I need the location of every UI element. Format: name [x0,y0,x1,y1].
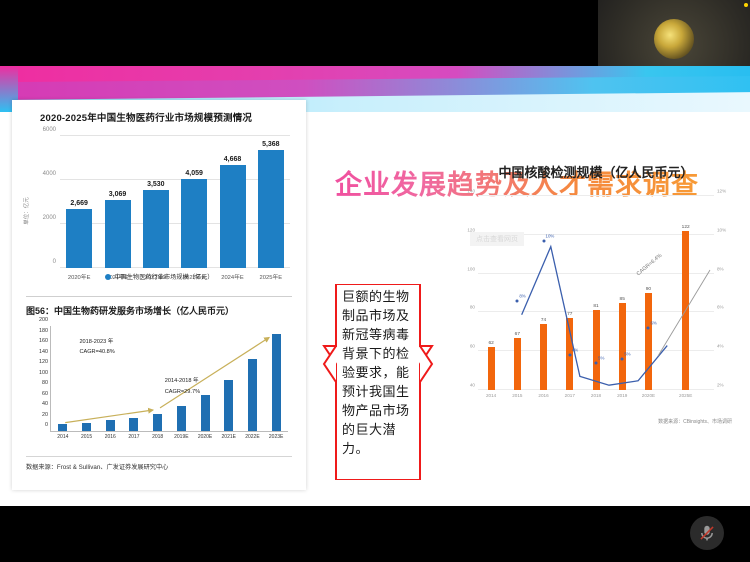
callout-annotation: 巨额的生物制品市场及新冠等病毒背景下的检验要求，能预计我国生物产品市场的巨大潜力… [322,284,434,480]
chart2-plot-area: 0204060801001201401601802002014201520162… [50,326,288,432]
chart3-title: 中国核酸检测规模（亿人民币元） [452,162,740,181]
chart3-x-tick: 2017 [565,393,575,398]
chart2-x-tick: 2014 [57,434,68,440]
chart3-bar: 902020E [645,293,652,390]
chart1-gridline [60,179,290,180]
chart2-bar: 2014 [58,424,67,431]
chart3-bar: 672015 [514,338,521,390]
legend-marker [105,274,111,280]
chart2-annotation-period: 2014-2018 年 [165,376,199,384]
chart3-bar-value: 77 [567,312,572,317]
chart3-bar: 852019 [619,303,626,390]
chart2-y-tick: 200 [39,317,48,323]
chart3-line-point-label: 5% [598,355,604,360]
chart2-x-tick: 2023E [269,434,283,440]
chart3-y-tick: 40 [470,383,475,388]
chart2-bar: 2022E [248,359,257,431]
right-chart-card: 中国核酸检测规模（亿人民币元） 4060801001201402%4%6%8%1… [452,162,740,462]
callout-text: 巨额的生物制品市场及新冠等病毒背景下的检验要求，能预计我国生物产品市场的巨大潜力… [342,288,416,459]
chart2-bar: 2020E [201,395,210,431]
chart3-secondary-y-tick: 10% [717,227,726,232]
chart1-y-axis-title: 单位：亿元 [22,197,30,225]
chart2-y-tick: 80 [42,380,48,386]
chart3-bar-value: 67 [515,332,520,337]
mute-button[interactable] [690,516,724,550]
chart2-annotation-cagr: CAGR=40.8% [79,349,114,355]
chart3-line-point-label: 6% [650,320,656,325]
chart3-bar: 812018 [593,310,600,390]
chart3-x-tick: 2019 [617,393,627,398]
chart2-y-tick: 0 [45,422,48,428]
chart1-y-tick: 4000 [43,171,56,177]
chart1-bar-value: 2,669 [70,200,88,207]
chart3-source-note: 数据来源：CBinsights、市场调研 [658,418,732,425]
source-divider [26,456,292,457]
chart3-bar-value: 122 [682,225,690,230]
chart2-y-tick: 140 [39,349,48,355]
chart3-y-tick: 140 [467,189,475,194]
chart2-bar: 2017 [129,418,138,431]
chart2-y-tick: 100 [39,370,48,376]
chart2-y-tick: 20 [42,412,48,418]
screen-share-view: 程哲灏的屏幕共享 2020-2025年中国生物医药行业市场规模预测情况 单位：亿… [0,0,750,562]
chart3-line-point-label: 4% [572,348,578,353]
chart1-bar-value: 4,059 [185,170,203,177]
chart1-title: 2020-2025年中国生物医药行业市场规模预测情况 [40,110,252,124]
chart2-y-tick: 180 [39,328,48,334]
chart3-y-tick: 80 [470,305,475,310]
chart2-x-tick: 2016 [105,434,116,440]
chart2-y-tick: 160 [39,338,48,344]
chart3-secondary-y-tick: 4% [717,344,724,349]
chart3-bar: 742016 [540,324,547,390]
chart2-bar: 2019E [177,406,186,431]
chart2-source-note: 数据来源：Frost & Sullivan、广发证券发展研究中心 [26,462,168,471]
chart3-line-point-label: 10% [546,233,555,238]
bar-chart-nucleic-acid-testing: 4060801001201402%4%6%8%10%12%62201467201… [452,190,740,414]
chart2-x-tick: 2021E [222,434,236,440]
chart1-bar-value: 4,668 [224,156,242,163]
chart3-x-tick: 2025E [679,393,692,398]
chart3-gridline [478,273,714,274]
left-chart-card: 2020-2025年中国生物医药行业市场规模预测情况 单位：亿元 0200040… [12,100,306,490]
chart3-line-point [516,299,519,302]
chart3-line-point [542,239,545,242]
chart3-line-point [568,354,571,357]
chart3-bar: 622014 [488,347,495,390]
chart3-x-tick: 2018 [591,393,601,398]
chart2-bar: 2021E [224,380,233,431]
chart2-title: 图56：中国生物药研发服务市场增长（亿人民币元） [26,304,234,317]
chart3-bar: 1222025E [682,231,689,390]
chart1-gridline [60,223,290,224]
chart2-annotation-period: 2018-2023 年 [79,337,113,345]
chart1-bar: 3,0692021年E [105,200,131,268]
chart3-secondary-y-tick: 6% [717,305,724,310]
chart1-gridline [60,135,290,136]
avatar [654,19,694,59]
chart3-x-tick: 2014 [486,393,496,398]
chart2-bar: 2023E [272,334,281,431]
chart2-annotation-cagr: CAGR=29.7% [165,389,200,395]
chart3-line-point-label: 5% [624,351,630,356]
chart3-bar-value: 62 [488,341,493,346]
chart3-y-tick: 60 [470,344,475,349]
bar-chart-rnd-service-growth: 0204060801001201401601802002014201520162… [20,322,300,454]
chart2-x-tick: 2015 [81,434,92,440]
chart3-bar-value: 85 [620,297,625,302]
recording-indicator-dot [744,3,748,7]
chart3-bar-value: 74 [541,318,546,323]
chart2-bar: 2015 [82,423,91,431]
chart1-legend: 中国生物医药行业市场规模（亿元） [12,272,306,281]
chart1-bar: 5,3682025年E [258,150,284,268]
chart3-x-tick: 2020E [642,393,655,398]
chart3-y-tick: 100 [467,266,475,271]
chart2-x-tick: 2017 [128,434,139,440]
chart1-bar: 2,6692020年E [66,209,92,268]
chart2-y-tick: 60 [42,391,48,397]
chart3-bar-value: 90 [646,287,651,292]
chart2-x-tick: 2018 [152,434,163,440]
chart3-secondary-y-tick: 8% [717,266,724,271]
chart2-bar: 2016 [106,420,115,431]
microphone-muted-icon [698,524,716,542]
chart2-bar: 2018 [153,414,162,431]
chart3-secondary-y-tick: 2% [717,383,724,388]
chart1-plot-area: 02000400060002,6692020年E3,0692021年E3,530… [60,136,290,268]
chart3-line-point-label: 8% [519,293,525,298]
chart3-secondary-y-tick: 12% [717,189,726,194]
chart3-bar-value: 81 [593,304,598,309]
legend-label: 中国生物医药行业市场规模（亿元） [115,272,214,281]
chart1-bar-value: 3,069 [109,191,127,198]
chart1-bar: 4,6682024年E [220,165,246,268]
chart3-line-point [647,326,650,329]
presentation-slide: 2020-2025年中国生物医药行业市场规模预测情况 单位：亿元 0200040… [0,66,750,506]
chart3-x-tick: 2016 [538,393,548,398]
chart1-bar: 3,5302022年E [143,190,169,268]
chart1-y-tick: 0 [53,259,56,265]
chart1-bar: 4,0592023年E [181,179,207,268]
chart3-watermark: 点击查看网页 [470,232,524,246]
bar-chart-biopharma-market: 单位：亿元 02000400060002,6692020年E3,0692021年… [20,128,300,294]
chart3-plot-area: 4060801001201402%4%6%8%10%12%62201467201… [478,196,714,390]
chart3-line-point [595,361,598,364]
chart3-x-tick: 2015 [512,393,522,398]
chart2-x-tick: 2019E [174,434,188,440]
chart1-y-tick: 2000 [43,215,56,221]
chart3-gridline [478,195,714,196]
chart1-gridline [60,267,290,268]
chart3-line-point [621,357,624,360]
chart2-y-tick: 120 [39,359,48,365]
chart1-bar-value: 3,530 [147,181,165,188]
chart1-bar-value: 5,368 [262,141,280,148]
chart2-x-tick: 2020E [198,434,212,440]
chart2-x-tick: 2022E [245,434,259,440]
chart1-y-tick: 6000 [43,127,56,133]
chart2-y-tick: 40 [42,401,48,407]
card-divider [26,296,292,297]
